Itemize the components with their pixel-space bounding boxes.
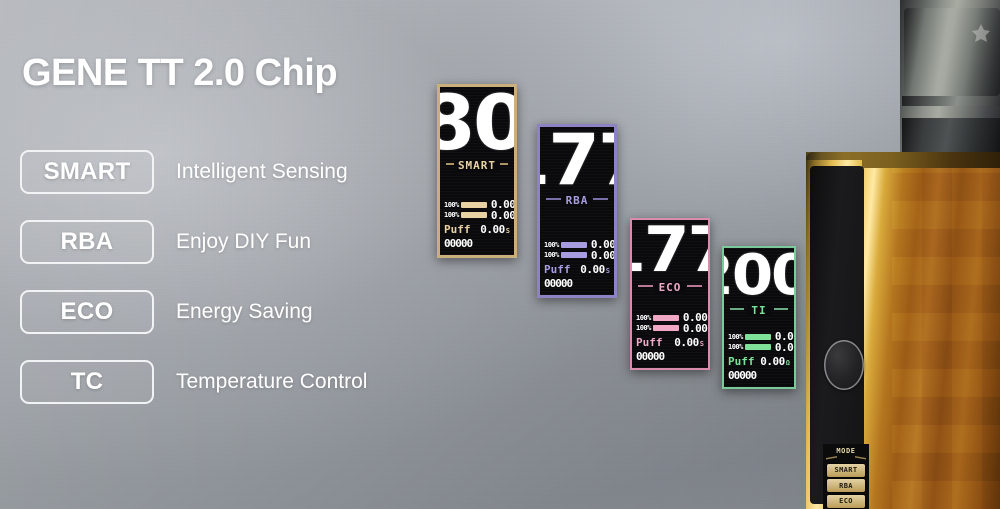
fire-button[interactable] [824,340,864,390]
puff-label: Puff [728,355,755,368]
readout-unit: S [606,268,610,275]
device-body-pattern [892,160,1000,509]
feature-row-eco: ECO Energy Saving [20,288,367,336]
battery-row: 100% [636,324,679,332]
mode-wing-right-icon [774,308,788,310]
feature-desc-tc: Temperature Control [176,370,367,394]
screen-stats-eco: 100% 100% 0.00 V 0.00 Ω [636,295,704,365]
battery-pct: 100% [444,211,459,219]
device-screen-ti: 200 °F TI 100% 100% [722,246,796,389]
mini-screen-item-smart[interactable]: SMART [827,464,865,477]
mode-wing-left-icon [730,308,744,310]
screen-mode-bar-eco: ECO [636,278,704,292]
device-screen-smart: 80 W SMART 100% 100% [437,84,517,258]
readout-row: 0.00 Ω [491,210,517,222]
feature-list: SMART Intelligent Sensing RBA Enjoy DIY … [20,148,367,428]
puff-count: 00000 [636,350,664,363]
puff-label: Puff [444,223,471,236]
readout-unit: S [700,341,704,348]
screen-value-wrap-eco: 177 W [636,223,704,276]
readout-row: 0.00 S [480,224,510,236]
feature-row-smart: SMART Intelligent Sensing [20,148,367,196]
puff-row-ti: Puff 0.00 Ω [728,355,790,368]
readout-row: 0.00 Ω [760,356,790,368]
readout-unit: S [506,228,510,235]
battery-bar-icon [745,334,771,340]
screen-value-rba: 177 [537,132,617,189]
battery-row: 100% [444,201,487,209]
device-mini-screen: MODE SMART RBA ECO TC [823,444,869,509]
battery-pct: 100% [728,333,743,341]
feature-desc-rba: Enjoy DIY Fun [176,230,311,254]
mode-wing-right-icon [687,285,702,287]
puff-label: Puff [544,263,571,276]
battery-row: 100% [544,251,587,259]
mini-screen-item-rba[interactable]: RBA [827,479,865,492]
vape-device: MODE SMART RBA ECO TC [800,0,1000,509]
battery-row: 100% [728,343,771,351]
screen-value-eco: 177 [630,225,710,276]
readout-value: 0.00 [580,264,605,276]
screen-mode-bar-ti: TI [728,301,790,315]
feature-desc-eco: Energy Saving [176,300,313,324]
battery-pct: 100% [636,324,651,332]
readout-value: 0.00 [760,356,785,368]
screen-mode-label-ti: TI [747,304,770,317]
battery-row: 100% [728,333,771,341]
feature-pill-smart[interactable]: SMART [20,150,154,194]
puff-count-row-eco: 00000 [636,350,704,363]
readout-value: 0.00 [674,337,699,349]
battery-row: 100% [636,314,679,322]
battery-pct: 100% [544,251,559,259]
readout-row: 0.00 Ω [591,250,617,262]
brand-logo-icon [968,22,994,46]
battery-pct: 100% [544,241,559,249]
puff-label: Puff [636,336,663,349]
battery-bar-icon [561,252,587,258]
feature-row-rba: RBA Enjoy DIY Fun [20,218,367,266]
readout-value: 0.00 [491,210,516,222]
battery-pct: 100% [444,201,459,209]
page-title: GENE TT 2.0 Chip [22,52,337,95]
battery-bars-ti: 100% 100% [728,333,771,351]
battery-bar-icon [653,315,679,321]
puff-count: 00000 [544,277,572,290]
readout-value: 0.00 [775,342,796,354]
readout-unit: Ω [786,360,790,367]
readout-row: 0.00 S [674,337,704,349]
tank-ring [902,96,1000,106]
puff-count-row-ti: 00000 [728,369,790,382]
mini-screen-item-eco[interactable]: ECO [827,495,865,508]
readout-unit: V [616,243,617,250]
battery-bars-eco: 100% 100% [636,314,679,332]
battery-bar-icon [561,242,587,248]
screen-mode-bar-smart: SMART [444,156,510,170]
puff-row-rba: Puff 0.00 S [544,263,610,276]
mode-wing-left-icon [546,198,561,200]
screen-value-wrap-ti: 200 °F [728,251,790,299]
readout-value: 0.00 [480,224,505,236]
feature-row-tc: TC Temperature Control [20,358,367,406]
battery-bar-icon [745,344,771,350]
screen-mode-label-rba: RBA [562,194,593,207]
battery-bar-icon [461,212,487,218]
readout-unit: V [516,203,517,210]
battery-bar-icon [461,202,487,208]
puff-count: 00000 [728,369,756,382]
puff-count-row-smart: 00000 [444,237,510,250]
feature-pill-eco[interactable]: ECO [20,290,154,334]
device-front-panel: MODE SMART RBA ECO TC [810,166,864,504]
battery-bar-icon [653,325,679,331]
screen-mode-label-eco: ECO [655,281,686,294]
puff-row-eco: Puff 0.00 S [636,336,704,349]
readout-unit: Ω [708,327,710,334]
device-screen-rba: 177 W RBA 100% 100% [537,124,617,298]
readout-unit: V [708,316,710,323]
mini-screen-title: MODE [823,447,869,455]
screen-value-wrap-smart: 80 W [444,90,510,154]
screen-value-ti: 200 [722,253,796,299]
battery-row: 100% [444,211,487,219]
readout-row: 0.00 Ω [683,323,710,335]
puff-count-row-rba: 00000 [544,277,610,290]
feature-pill-tc[interactable]: TC [20,360,154,404]
screen-value-wrap-rba: 177 W [544,130,610,189]
readout-value: 0.00 [591,250,616,262]
mode-wing-right-icon [593,198,608,200]
puff-row-smart: Puff 0.00 S [444,223,510,236]
feature-desc-smart: Intelligent Sensing [176,160,348,184]
screen-value-smart: 80 [437,92,517,154]
puff-count: 00000 [444,237,472,250]
readout-unit: Ω [616,254,617,261]
screen-stats-smart: 100% 100% 0.00 V 0.00 Ω [444,173,510,252]
battery-row: 100% [544,241,587,249]
readout-row: 0.00 S [775,342,796,354]
screen-mode-bar-rba: RBA [544,191,610,205]
screen-stats-rba: 100% 100% 0.00 V 0.00 Ω [544,208,610,292]
feature-pill-rba[interactable]: RBA [20,220,154,264]
readout-unit: Ω [516,214,517,221]
screen-mode-label-smart: SMART [454,159,500,172]
readout-value: 0.00 [683,323,708,335]
readout-row: 0.00 S [580,264,610,276]
mode-wing-left-icon [638,285,653,287]
battery-bars-rba: 100% 100% [544,241,587,259]
battery-pct: 100% [636,314,651,322]
battery-pct: 100% [728,343,743,351]
battery-bars-smart: 100% 100% [444,201,487,219]
screen-stats-ti: 100% 100% 0.00 W 0.00 S [728,318,790,384]
device-screen-eco: 177 W ECO 100% 100% [630,218,710,370]
mini-screen-wings-icon [826,456,866,461]
